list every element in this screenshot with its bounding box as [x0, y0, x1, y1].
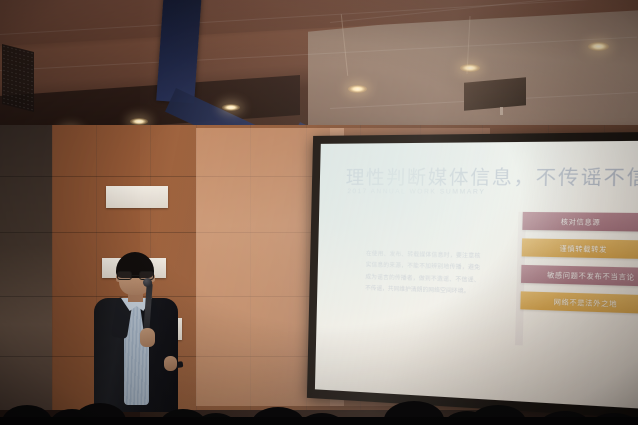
slide-body-paragraph: 在使用、发布、转载媒体信息时，要注意核实信息的来源，不能不加辨别地传播，避免成为… [365, 249, 481, 299]
slide-bar-item: 敏感问题不发布不当言论 [521, 265, 638, 287]
audience-silhouettes [0, 375, 638, 425]
downlight-icon [130, 118, 148, 125]
downlight-icon [460, 64, 480, 72]
downlight-icon [222, 104, 240, 111]
presentation-slide: 理性判断媒体信息，不传谣不信谣 2017 ANNUAL WORK SUMMARY… [315, 141, 638, 410]
wall-placard [106, 186, 168, 208]
wall-left-dark-column [0, 125, 52, 410]
downlight-icon [348, 85, 367, 93]
glasses-bridge [132, 275, 139, 276]
ceiling [0, 0, 638, 132]
slide-title: 理性判断媒体信息，不传谣不信谣 [345, 163, 638, 192]
presenter-hand-holding-mic [140, 328, 155, 347]
audience-foreground-shadow [0, 417, 638, 425]
presenter-hand-holding-clicker [164, 356, 177, 371]
perforated-speaker-panel [2, 44, 34, 112]
glasses-lens-left [117, 271, 132, 280]
microphone-head [143, 278, 152, 287]
slide-bar-item: 谨慎转载转发 [522, 238, 638, 259]
ceiling-dark-strip [0, 75, 300, 132]
slide-bar-item: 网络不是法外之地 [520, 291, 638, 314]
downlight-icon [588, 42, 609, 51]
slide-bar-host: 核对信息源谨慎转载转发敏感问题不发布不当言论网络不是法外之地 [516, 212, 638, 314]
projection-screen: 理性判断媒体信息，不传谣不信谣 2017 ANNUAL WORK SUMMARY… [315, 141, 638, 410]
vent-sprinkler-icon [500, 107, 503, 115]
slide-bar-list: 核对信息源谨慎转载转发敏感问题不发布不当言论网络不是法外之地 [516, 212, 638, 323]
slide-subtitle: 2017 ANNUAL WORK SUMMARY [347, 188, 485, 196]
wall-panel-column-line [52, 125, 53, 410]
photograph-scene: 理性判断媒体信息，不传谣不信谣 2017 ANNUAL WORK SUMMARY… [0, 0, 638, 425]
slide-bar-item: 核对信息源 [522, 212, 638, 232]
navy-duct-band-upper [156, 0, 202, 103]
ceiling-vent [464, 77, 526, 110]
